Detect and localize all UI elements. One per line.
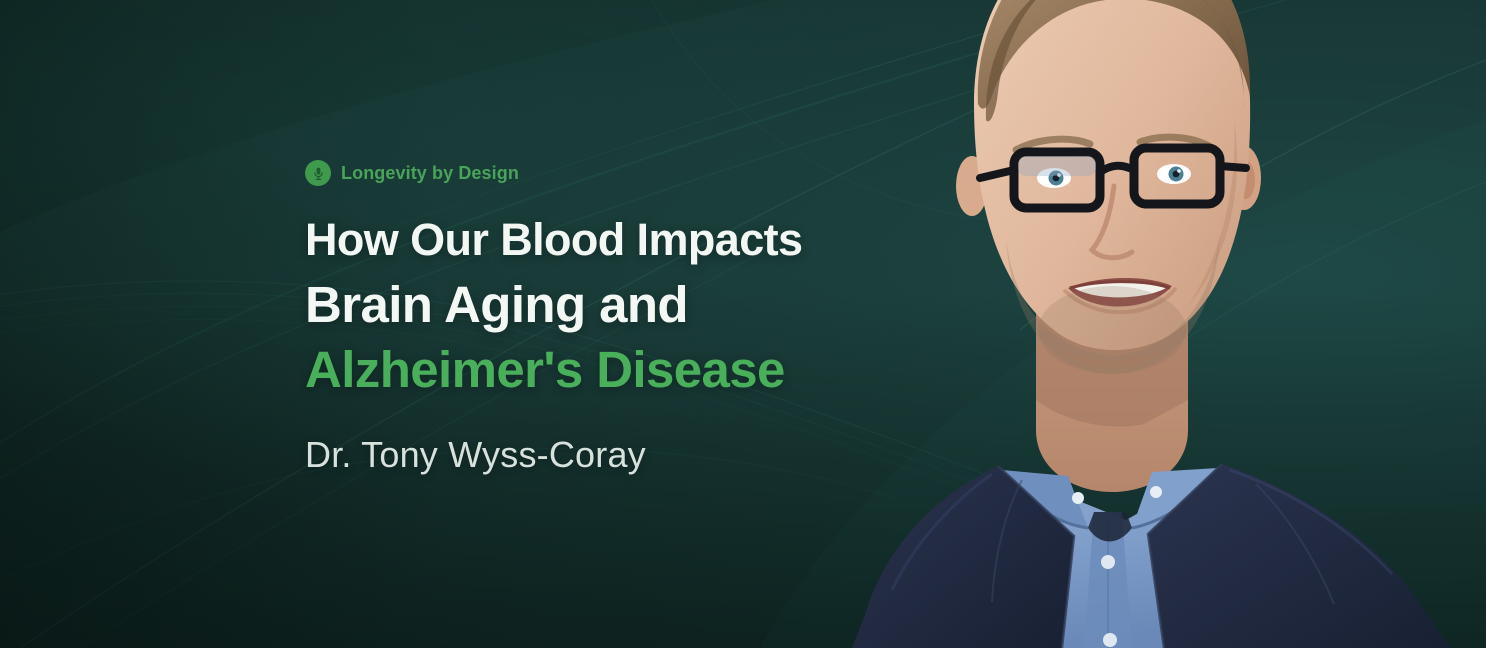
show-badge-label: Longevity by Design — [341, 163, 519, 184]
speaker-name: Dr. Tony Wyss-Coray — [305, 434, 965, 476]
show-badge[interactable]: Longevity by Design — [305, 160, 965, 186]
episode-title-line-3: Alzheimer's Disease — [305, 337, 965, 403]
hero-text-block: Longevity by Design How Our Blood Impact… — [305, 0, 965, 648]
podcast-hero-banner: Dr. Tony Wyss-Coray wearing black-framed… — [0, 0, 1486, 648]
episode-title-line-1: How Our Blood Impacts — [305, 208, 965, 272]
microphone-icon — [305, 160, 331, 186]
episode-title-line-2: Brain Aging and — [305, 272, 965, 337]
episode-title: How Our Blood Impacts Brain Aging and Al… — [305, 208, 965, 403]
